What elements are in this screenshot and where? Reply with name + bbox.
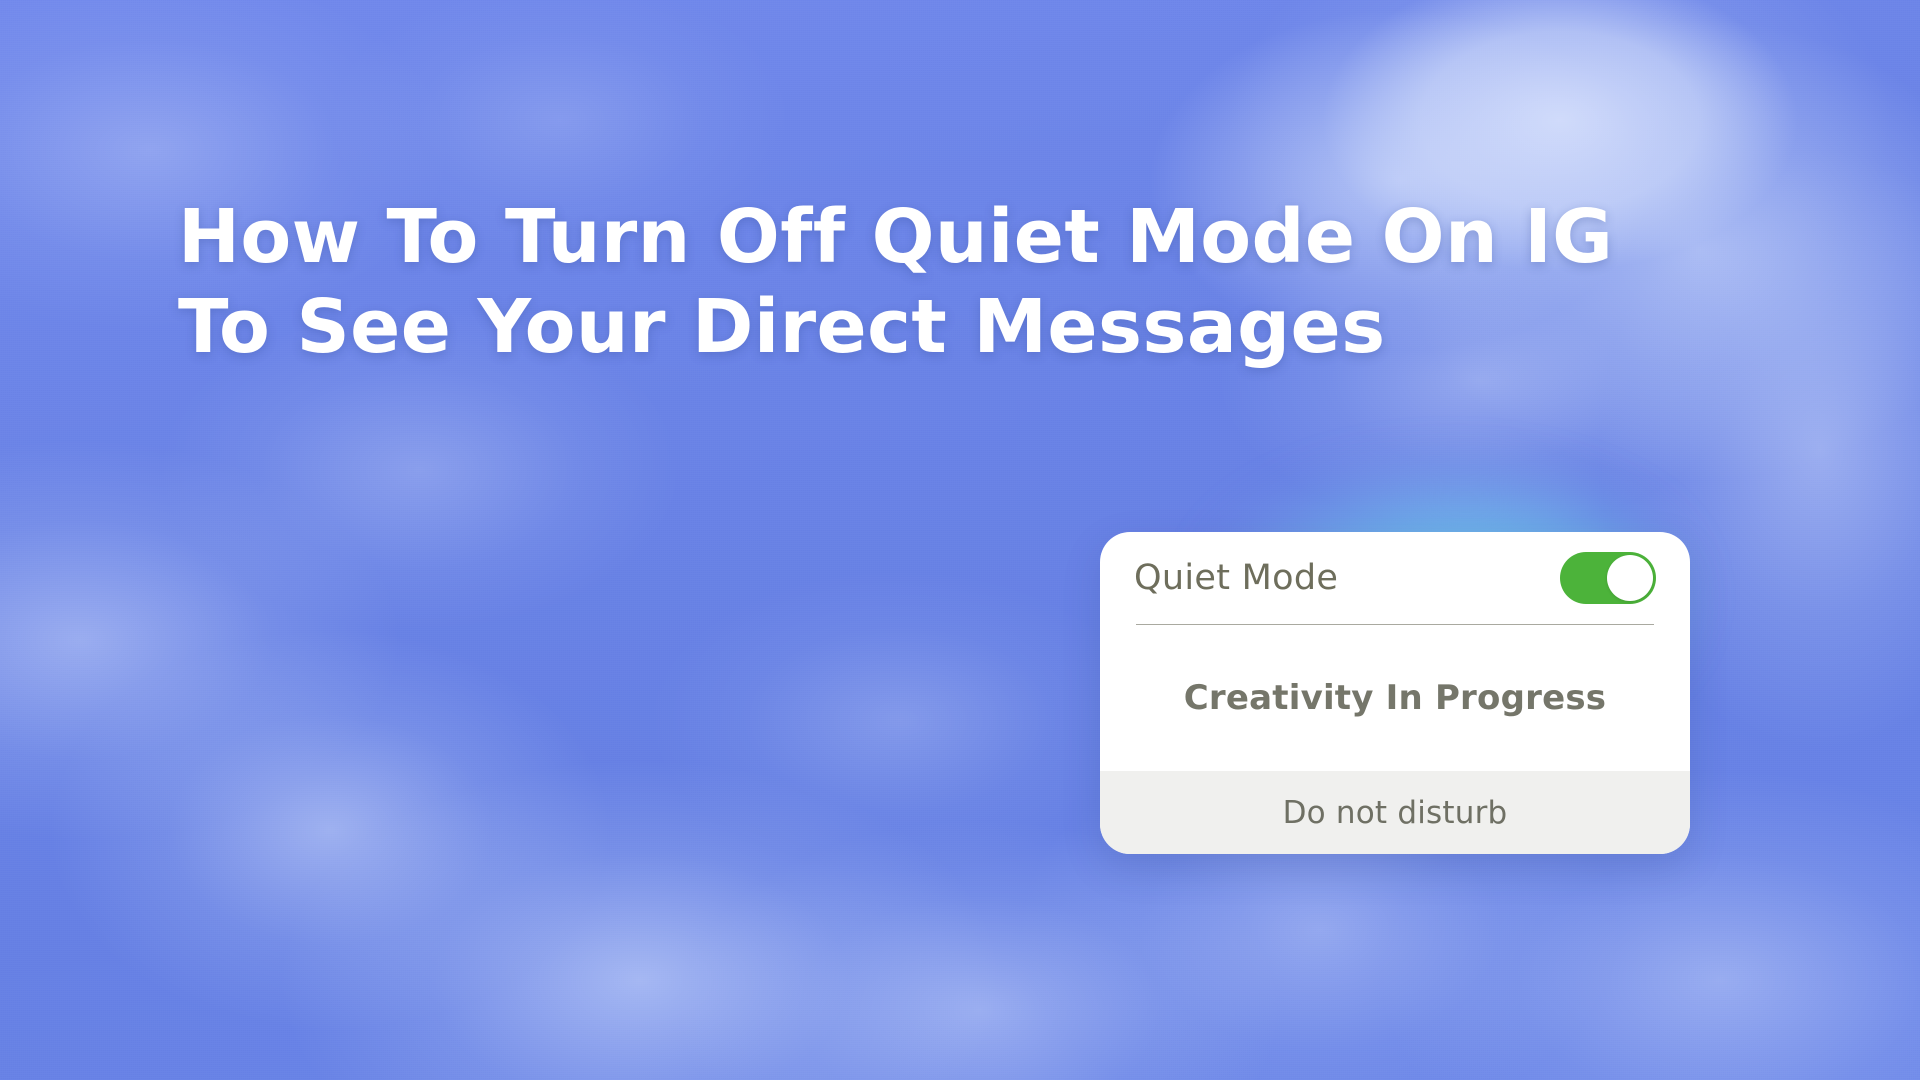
toggle-knob-icon xyxy=(1607,555,1653,601)
quiet-mode-row[interactable]: Quiet Mode xyxy=(1134,532,1656,624)
page-title: How To Turn Off Quiet Mode On IG To See … xyxy=(178,192,1638,372)
quiet-mode-card: Quiet Mode Creativity In Progress Do not… xyxy=(1100,532,1690,854)
status-row: Creativity In Progress xyxy=(1134,625,1656,771)
quiet-mode-label: Quiet Mode xyxy=(1134,558,1338,598)
card-footer[interactable]: Do not disturb xyxy=(1100,771,1690,854)
card-body: Quiet Mode Creativity In Progress xyxy=(1100,532,1690,771)
do-not-disturb-label: Do not disturb xyxy=(1283,795,1508,831)
quiet-mode-toggle[interactable] xyxy=(1560,552,1656,604)
poster-canvas: How To Turn Off Quiet Mode On IG To See … xyxy=(0,0,1920,1080)
status-text: Creativity In Progress xyxy=(1184,678,1606,718)
